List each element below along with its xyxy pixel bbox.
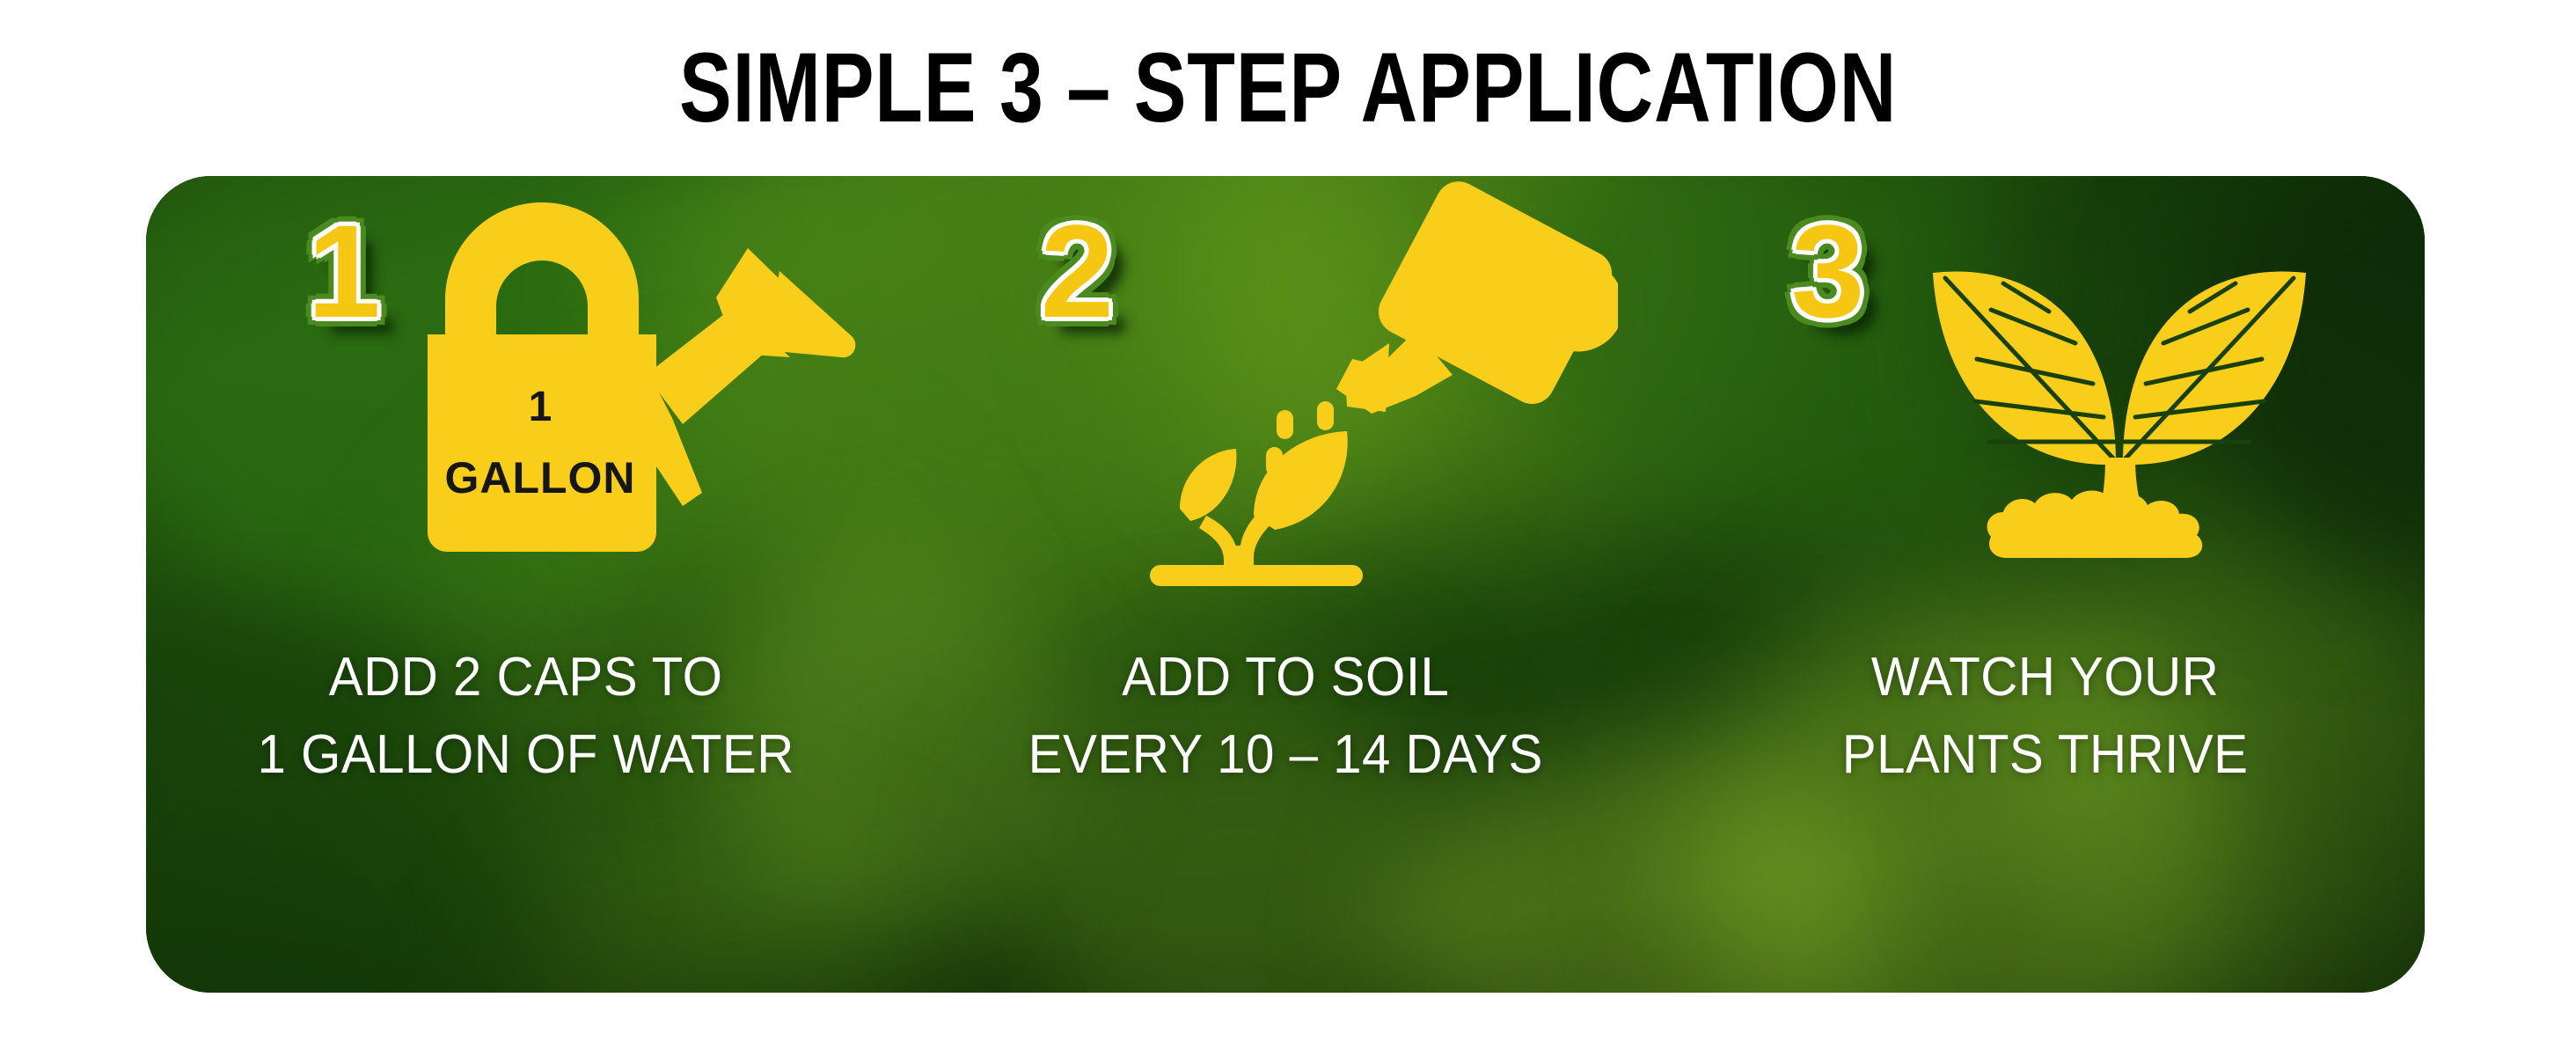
step-1-caption-line-1: ADD 2 CAPS TO [257,639,794,716]
step-1-caption-line-2: 1 GALLON OF WATER [257,716,794,794]
step-3-caption-line-1: WATCH YOUR [1841,639,2248,716]
step-2-caption: ADD TO SOIL EVERY 10 – 14 DAYS [1028,639,1542,794]
sprouting-plant-leaves-icon [1894,202,2352,572]
step-1-artwork: 1 1 GALLON [146,176,905,634]
step-number-badge-1: 1 [278,194,410,348]
step-2-caption-line-2: EVERY 10 – 14 DAYS [1028,716,1542,794]
step-number-badge-3: 3 [1762,194,1894,348]
steps-card: 1 1 GALLON ADD 2 [146,176,2425,993]
page-header: SIMPLE 3 – STEP APPLICATION [0,0,2576,176]
step-item-1: 1 1 GALLON ADD 2 [146,176,905,993]
can-amount-label: 1 [529,384,553,430]
watering-can-pouring-sprout-icon [1125,176,1618,590]
water-droplet [1277,410,1293,439]
water-droplet [1317,401,1334,430]
can-unit-label: GALLON [444,453,635,502]
steps-row: 1 1 GALLON ADD 2 [146,176,2425,993]
step-item-2: 2 [905,176,1665,993]
step-1-caption: ADD 2 CAPS TO 1 GALLON OF WATER [257,639,794,794]
page-title: SIMPLE 3 – STEP APPLICATION [679,39,1897,137]
step-3-artwork: 3 [1665,176,2425,634]
step-3-caption-line-2: PLANTS THRIVE [1841,716,2248,794]
step-number-badge-2: 2 [1011,194,1143,348]
step-item-3: 3 [1665,176,2425,993]
step-2-artwork: 2 [905,176,1665,634]
step-2-caption-line-1: ADD TO SOIL [1028,639,1542,716]
watering-can-icon: 1 GALLON [392,202,885,572]
step-3-caption: WATCH YOUR PLANTS THRIVE [1841,639,2248,794]
